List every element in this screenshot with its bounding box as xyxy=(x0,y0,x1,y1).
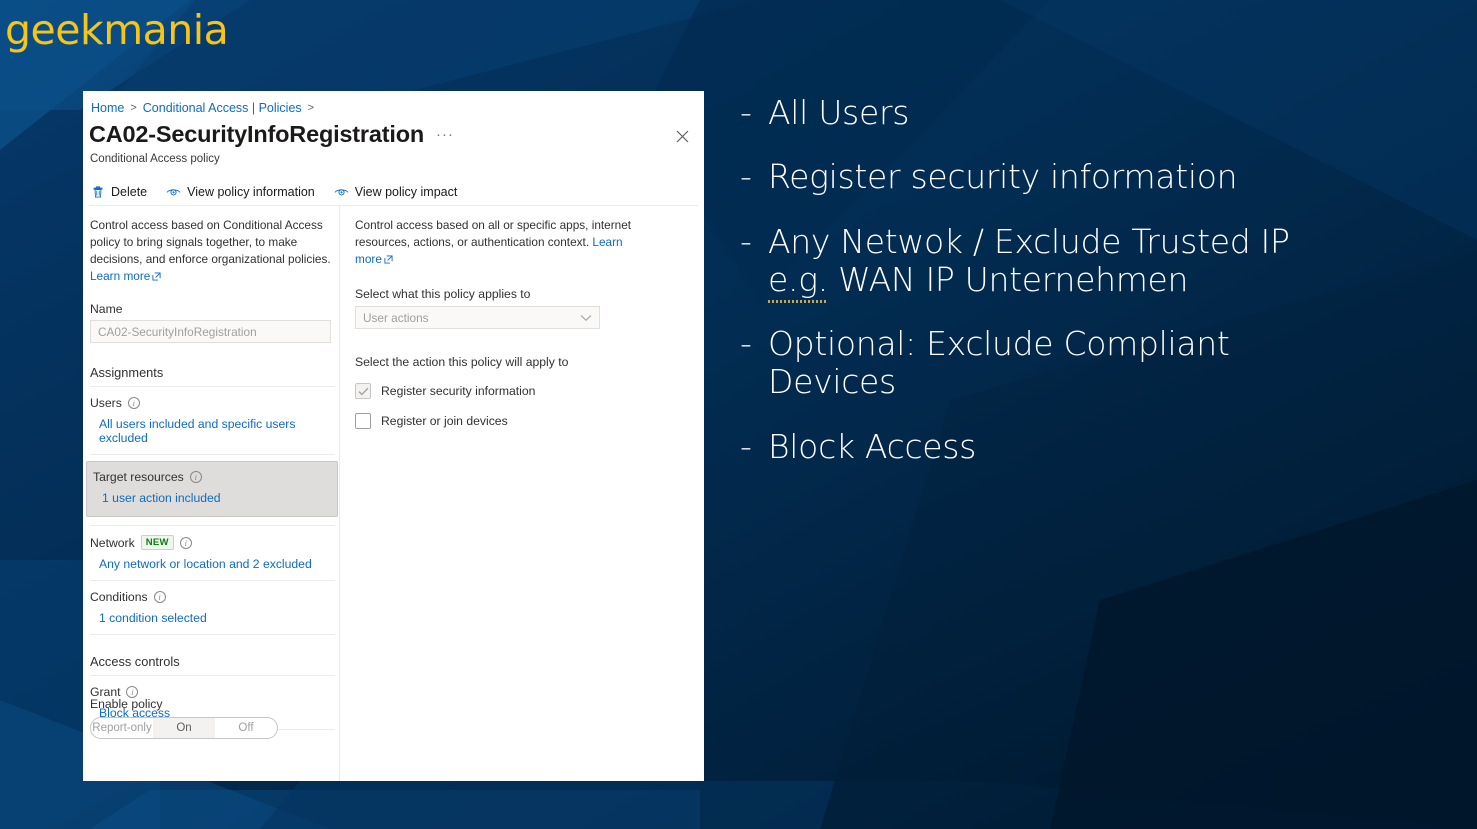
bullet-text: All Users xyxy=(768,94,1440,132)
users-label: Users i xyxy=(90,396,335,410)
divider xyxy=(90,580,335,581)
info-icon[interactable]: i xyxy=(154,591,166,603)
breadcrumb-home[interactable]: Home xyxy=(91,101,124,115)
enable-policy-section: Enable policy Report-only On Off xyxy=(90,697,335,739)
more-options-icon[interactable]: ··· xyxy=(436,126,454,143)
breadcrumb-separator-icon: > xyxy=(130,102,136,114)
right-column: Control access based on all or specific … xyxy=(355,217,645,429)
trash-icon xyxy=(91,185,105,199)
target-resources-tile[interactable]: Target resources i 1 user action include… xyxy=(86,461,338,517)
list-item: - All Users xyxy=(740,94,1440,132)
target-resources-label-text: Target resources xyxy=(93,470,184,484)
bullet-text: Register security information xyxy=(768,158,1440,196)
enable-option-report-only[interactable]: Report-only xyxy=(91,718,153,738)
title-row: CA02-SecurityInfoRegistration ··· xyxy=(89,121,454,148)
bullet-text: Optional: Exclude Compliant Devices xyxy=(768,325,1440,402)
page-subtitle: Conditional Access policy xyxy=(90,153,220,165)
view-policy-information-label: View policy information xyxy=(187,185,315,199)
left-column: Control access based on Conditional Acce… xyxy=(90,217,335,730)
right-description: Control access based on all or specific … xyxy=(355,217,645,269)
bullet-line-2: Devices xyxy=(768,362,896,401)
list-item: - Block Access xyxy=(740,428,1440,466)
view-policy-impact-label: View policy impact xyxy=(355,185,458,199)
breadcrumb-policies[interactable]: Conditional Access | Policies xyxy=(143,101,302,115)
divider xyxy=(90,386,335,387)
target-resources-value-link[interactable]: 1 user action included xyxy=(102,491,329,505)
list-item: - Optional: Exclude Compliant Devices xyxy=(740,325,1440,402)
breadcrumb-separator-icon: > xyxy=(308,102,314,114)
bullet-dash: - xyxy=(740,325,754,402)
conditions-label-text: Conditions xyxy=(90,590,148,604)
eye-icon xyxy=(334,185,349,199)
action-label-register-security-information: Register security information xyxy=(381,384,535,398)
close-icon[interactable] xyxy=(671,125,693,147)
external-link-icon xyxy=(384,252,393,269)
name-input-value: CA02-SecurityInfoRegistration xyxy=(98,325,257,339)
bullet-dash: - xyxy=(740,158,754,196)
list-item: - Any Netwok / Exclude Trusted IP e.g. W… xyxy=(740,223,1440,300)
conditions-value-link[interactable]: 1 condition selected xyxy=(99,611,335,625)
applies-to-dropdown[interactable]: User actions xyxy=(355,306,600,329)
conditions-label: Conditions i xyxy=(90,590,335,604)
checkbox-checked-icon[interactable] xyxy=(355,383,371,399)
divider xyxy=(90,525,335,526)
enable-policy-toggle[interactable]: Report-only On Off xyxy=(90,717,278,739)
bullet-text: Any Netwok / Exclude Trusted IP e.g. WAN… xyxy=(768,223,1440,300)
applies-to-value: User actions xyxy=(363,311,429,325)
enable-policy-label: Enable policy xyxy=(90,697,335,711)
view-policy-information-button[interactable]: View policy information xyxy=(164,183,317,201)
left-description-text: Control access based on Conditional Acce… xyxy=(90,218,331,266)
left-learn-more-link[interactable]: Learn more xyxy=(90,269,150,283)
breadcrumb: Home > Conditional Access | Policies > xyxy=(91,101,314,115)
checkbox-unchecked-icon[interactable] xyxy=(355,413,371,429)
conditional-access-policy-panel: Home > Conditional Access | Policies > C… xyxy=(83,91,704,781)
bullet-dash: - xyxy=(740,428,754,466)
access-controls-heading: Access controls xyxy=(90,654,335,669)
delete-label: Delete xyxy=(111,185,147,199)
bullet-line-1: Optional: Exclude Compliant xyxy=(768,324,1230,363)
left-description: Control access based on Conditional Acce… xyxy=(90,217,335,286)
bullet-dash: - xyxy=(740,223,754,300)
bullet-line-1: Any Netwok / Exclude Trusted IP xyxy=(768,222,1290,261)
bullet-line-2-rest: WAN IP Unternehmen xyxy=(828,260,1188,299)
action-row-register-or-join-devices[interactable]: Register or join devices xyxy=(355,413,645,429)
bullet-dash: - xyxy=(740,94,754,132)
info-icon[interactable]: i xyxy=(128,397,140,409)
misspelled-word: e.g. xyxy=(768,260,828,299)
external-link-icon xyxy=(152,269,161,286)
users-value-link[interactable]: All users included and specific users ex… xyxy=(99,417,335,445)
chevron-down-icon xyxy=(580,311,592,325)
applies-to-label: Select what this policy applies to xyxy=(355,287,645,301)
divider xyxy=(90,454,335,455)
assignments-heading: Assignments xyxy=(90,365,335,380)
info-icon[interactable]: i xyxy=(190,471,202,483)
notes-list: - All Users - Register security informat… xyxy=(740,94,1440,492)
list-item: - Register security information xyxy=(740,158,1440,196)
command-bar-divider xyxy=(89,205,698,206)
bullet-text: Block Access xyxy=(768,428,1440,466)
page-title: CA02-SecurityInfoRegistration xyxy=(89,121,424,148)
info-icon[interactable]: i xyxy=(180,537,192,549)
target-resources-label: Target resources i xyxy=(93,470,329,484)
geekmania-logo: geekmania xyxy=(5,10,228,51)
right-description-text: Control access based on all or specific … xyxy=(355,218,631,249)
enable-option-off[interactable]: Off xyxy=(215,718,277,738)
network-new-badge: NEW xyxy=(141,535,174,550)
divider xyxy=(90,675,335,676)
action-label: Select the action this policy will apply… xyxy=(355,355,645,369)
name-label: Name xyxy=(90,302,335,316)
network-label-text: Network xyxy=(90,536,135,550)
enable-option-on[interactable]: On xyxy=(153,718,215,738)
action-label-register-or-join-devices: Register or join devices xyxy=(381,414,508,428)
name-input[interactable]: CA02-SecurityInfoRegistration xyxy=(90,320,331,343)
network-value-link[interactable]: Any network or location and 2 excluded xyxy=(99,557,335,571)
column-divider xyxy=(339,206,340,781)
eye-icon xyxy=(166,185,181,199)
divider xyxy=(90,634,335,635)
network-label: Network NEW i xyxy=(90,535,335,550)
delete-button[interactable]: Delete xyxy=(89,183,149,201)
view-policy-impact-button[interactable]: View policy impact xyxy=(332,183,460,201)
action-row-register-security-information[interactable]: Register security information xyxy=(355,383,645,399)
command-bar: Delete View policy information View poli… xyxy=(89,179,704,205)
users-label-text: Users xyxy=(90,396,122,410)
